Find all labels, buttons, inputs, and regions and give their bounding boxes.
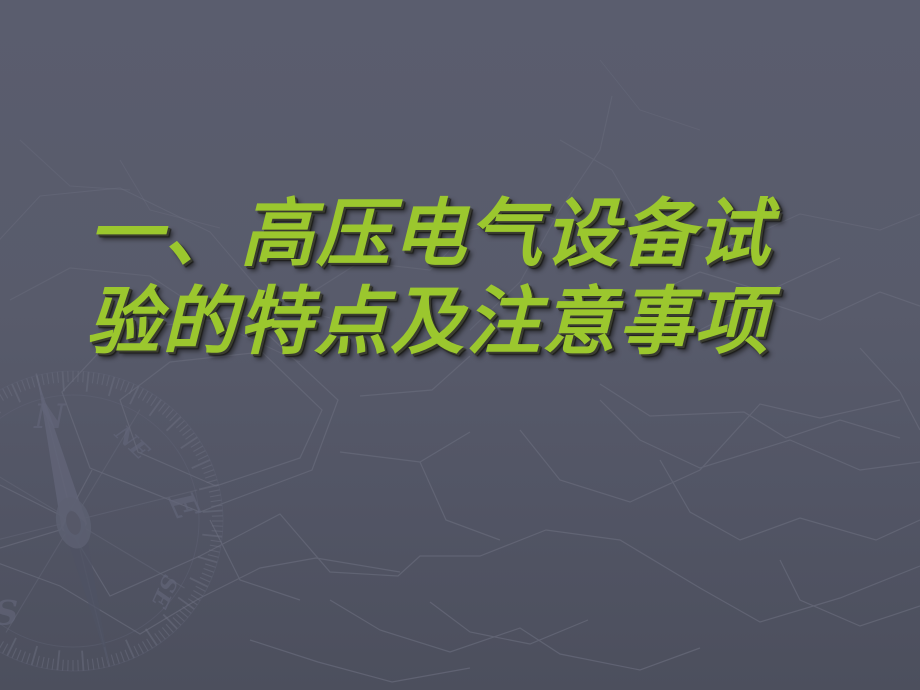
svg-text:E: E	[160, 485, 208, 527]
svg-text:N: N	[33, 397, 67, 437]
compass-rose-icon: N NW NE E SE S	[0, 356, 238, 686]
page-title-line-2: 验的特点及注意事项	[60, 278, 860, 366]
svg-text:SE: SE	[145, 571, 183, 613]
page-title-line-1: 一、高压电气设备试	[60, 190, 860, 278]
svg-text:NE: NE	[109, 420, 155, 466]
slide-title-block: 一、高压电气设备试 验的特点及注意事项	[60, 190, 860, 366]
svg-text:S: S	[0, 593, 18, 633]
presentation-slide: N NW NE E SE S 一、高压电气设备试 验的特点及注意事项	[0, 0, 920, 690]
svg-text:NW: NW	[0, 444, 5, 497]
